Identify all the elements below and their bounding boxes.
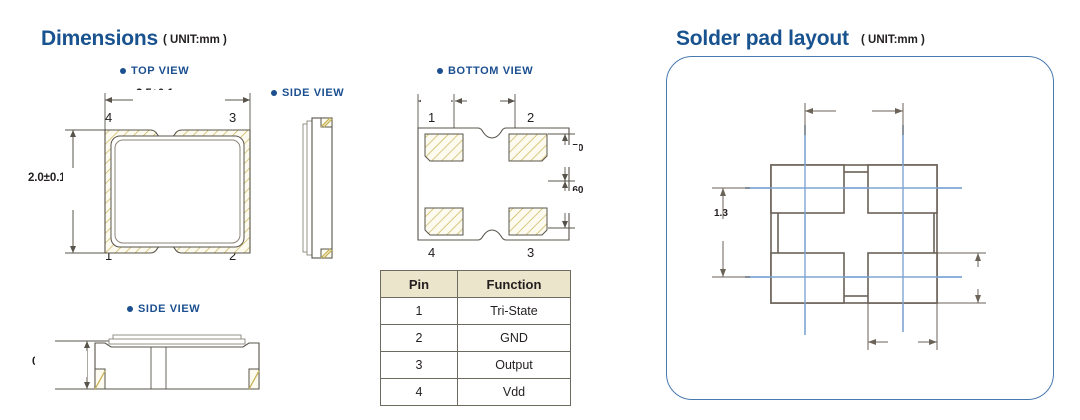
cell-function: Vdd (458, 379, 571, 406)
table-row: 1 Tri-State (381, 298, 571, 325)
side-view-right-label-text: SIDE VIEW (282, 87, 344, 99)
table-row: 2 GND (381, 325, 571, 352)
solder-pad-title: Solder pad layout (676, 27, 849, 51)
cell-function: Tri-State (458, 298, 571, 325)
cell-pin: 2 (381, 325, 458, 352)
side-view-bottom-drawing (35, 333, 275, 401)
cell-function: GND (458, 325, 571, 352)
table-row: 3 Output (381, 352, 571, 379)
bullet-icon (437, 68, 443, 74)
cell-pin: 1 (381, 298, 458, 325)
dimensions-unit-label: ( UNIT:mm ) (163, 34, 227, 46)
cell-function: Output (458, 352, 571, 379)
side-view-bottom-label-text: SIDE VIEW (138, 303, 200, 315)
bottom-view-drawing (405, 88, 600, 263)
cell-pin: 3 (381, 352, 458, 379)
side-view-bottom-label: SIDE VIEW (127, 303, 200, 315)
table-row: 4 Vdd (381, 379, 571, 406)
top-view-label: TOP VIEW (120, 65, 189, 77)
bullet-icon (127, 306, 133, 312)
side-view-right-drawing (290, 118, 340, 258)
side-view-right-label: SIDE VIEW (271, 87, 344, 99)
bullet-icon (120, 68, 126, 74)
bottom-view-label: BOTTOM VIEW (437, 65, 533, 77)
bullet-icon (271, 90, 277, 96)
pin-function-table: Pin Function 1 Tri-State 2 GND 3 Output … (380, 270, 571, 406)
top-view-drawing (55, 85, 275, 265)
solder-pad-unit-label: ( UNIT:mm ) (861, 34, 925, 46)
top-view-label-text: TOP VIEW (131, 65, 189, 77)
table-header-row: Pin Function (381, 271, 571, 298)
table-header-pin: Pin (381, 271, 458, 298)
solder-pad-drawing (690, 95, 1030, 375)
cell-pin: 4 (381, 379, 458, 406)
bottom-view-label-text: BOTTOM VIEW (448, 65, 533, 77)
table-header-function: Function (458, 271, 571, 298)
dimensions-title: Dimensions (41, 27, 158, 51)
